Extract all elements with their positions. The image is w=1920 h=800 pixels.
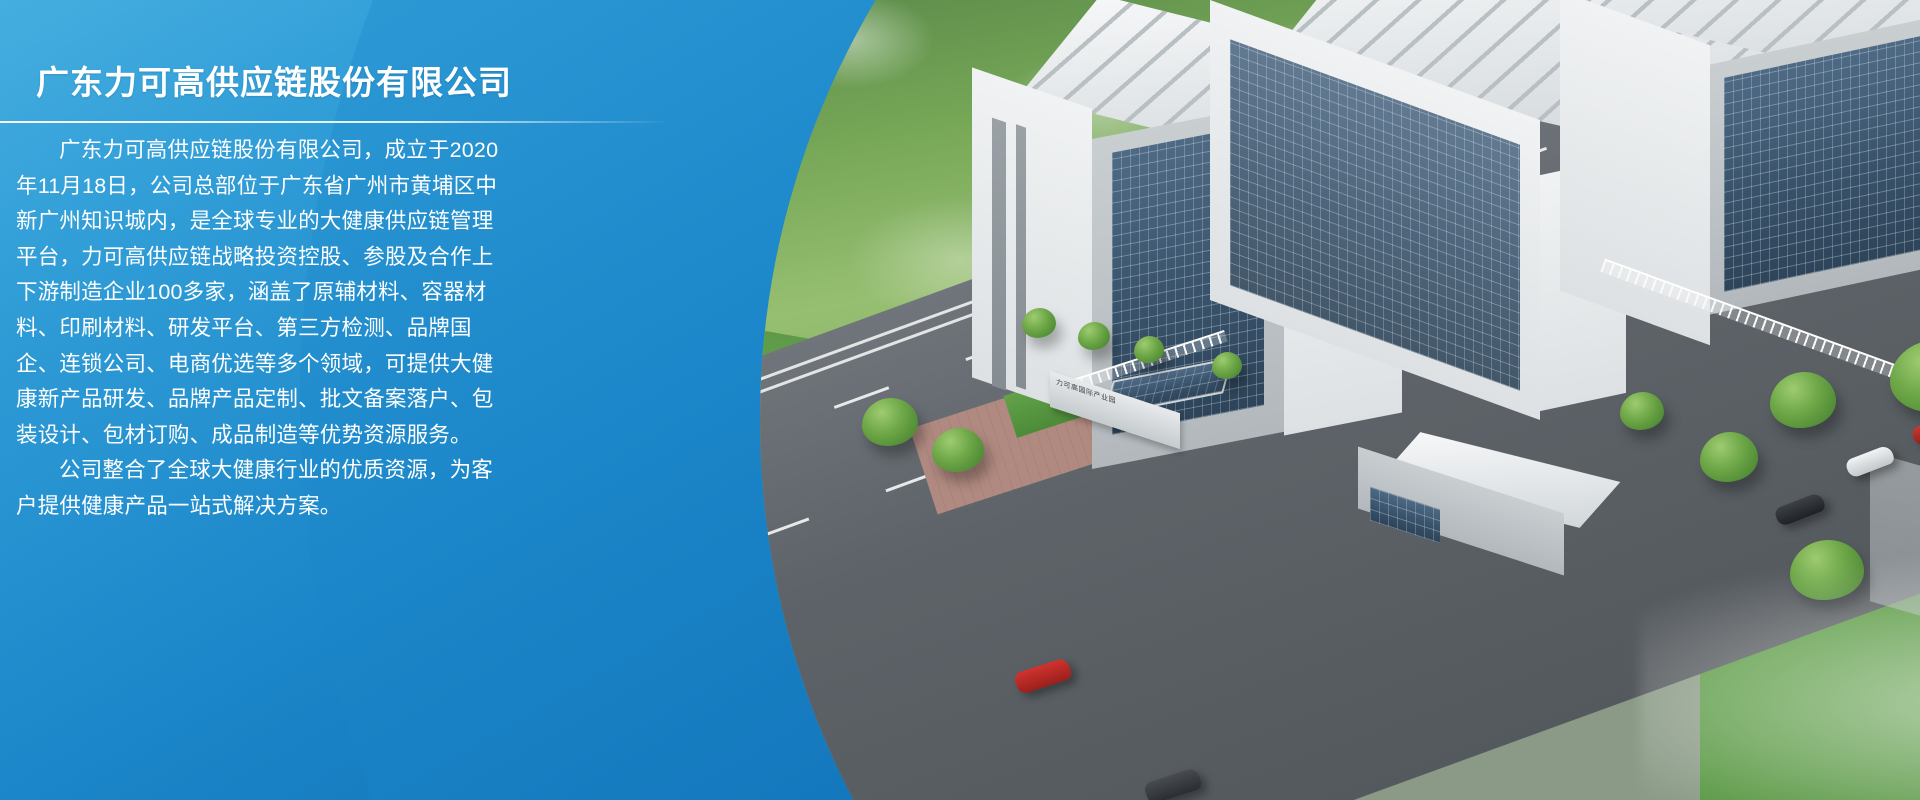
paragraph-2: 公司整合了全球大健康行业的优质资源，为客户提供健康产品一站式解决方案。 [16,453,508,524]
industrial-park-photo: 力可高国际产业园 [760,0,1920,800]
paragraph-1: 广东力可高供应链股份有限公司，成立于2020年11月18日，公司总部位于广东省广… [16,133,508,453]
photo-haze-overlay [1640,560,1920,800]
title-divider [0,121,672,123]
text-column: 广东力可高供应链股份有限公司 广东力可高供应链股份有限公司，成立于2020年11… [0,0,560,800]
company-profile-banner: 力可高国际产业园 [0,0,1920,800]
company-description: 广东力可高供应链股份有限公司，成立于2020年11月18日，公司总部位于广东省广… [16,133,508,525]
page-title: 广东力可高供应链股份有限公司 [36,56,512,104]
